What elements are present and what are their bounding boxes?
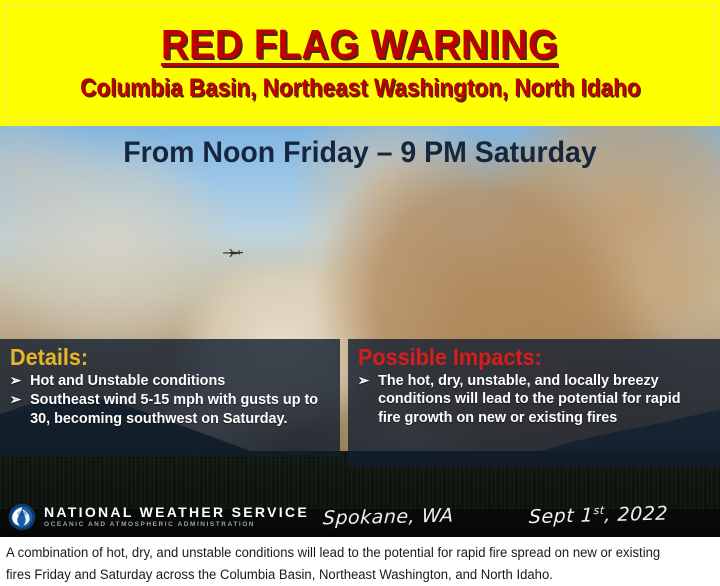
- issue-date-year: , 2022: [604, 503, 668, 527]
- warning-header-banner: RED FLAG WARNING Columbia Basin, Northea…: [0, 0, 720, 126]
- issue-date-main: Sept 1: [529, 504, 594, 528]
- nws-wordmark: NATIONAL WEATHER SERVICE OCEANIC AND ATM…: [44, 505, 309, 529]
- caption-block: A combination of hot, dry, and unstable …: [0, 537, 720, 585]
- warning-header-inner: RED FLAG WARNING Columbia Basin, Northea…: [4, 4, 716, 122]
- list-item: ➢ Southeast wind 5-15 mph with gusts up …: [8, 391, 319, 428]
- arrow-bullet-icon: ➢: [10, 372, 25, 388]
- issuing-office: Spokane, WA: [322, 505, 454, 530]
- details-bullet-list: ➢ Hot and Unstable conditions ➢ Southeas…: [8, 372, 332, 428]
- list-item-text: The hot, dry, unstable, and locally bree…: [378, 372, 680, 426]
- aircraft-icon: [222, 248, 244, 258]
- valid-time-headline: From Noon Friday – 9 PM Saturday: [18, 136, 702, 169]
- arrow-bullet-icon: ➢: [358, 372, 373, 388]
- details-heading: Details:: [10, 345, 313, 369]
- list-item-text: Southeast wind 5-15 mph with gusts up to…: [30, 391, 318, 426]
- list-item-text: Hot and Unstable conditions: [30, 372, 225, 389]
- page-title: RED FLAG WARNING: [161, 24, 558, 65]
- caption-line-2: fires Friday and Saturday across the Col…: [6, 564, 693, 586]
- impacts-panel: Possible Impacts: ➢ The hot, dry, unstab…: [348, 339, 720, 467]
- affected-areas-subtitle: Columbia Basin, Northeast Washington, No…: [80, 75, 640, 103]
- list-item: ➢ Hot and Unstable conditions: [8, 372, 319, 390]
- details-panel: Details: ➢ Hot and Unstable conditions ➢…: [0, 339, 340, 457]
- noaa-logo-icon: [8, 503, 36, 531]
- red-flag-warning-graphic: RED FLAG WARNING Columbia Basin, Northea…: [0, 0, 720, 537]
- arrow-bullet-icon: ➢: [10, 391, 25, 407]
- agency-subtitle: OCEANIC AND ATMOSPHERIC ADMINISTRATION: [44, 522, 309, 529]
- footer-bar: NATIONAL WEATHER SERVICE OCEANIC AND ATM…: [0, 497, 720, 537]
- impacts-heading: Possible Impacts:: [358, 345, 691, 369]
- agency-name: NATIONAL WEATHER SERVICE: [44, 505, 309, 519]
- wildfire-photo: [0, 126, 720, 537]
- caption-line-1: A combination of hot, dry, and unstable …: [6, 542, 693, 564]
- list-item: ➢ The hot, dry, unstable, and locally br…: [356, 372, 698, 427]
- impacts-bullet-list: ➢ The hot, dry, unstable, and locally br…: [356, 372, 712, 427]
- issue-date: Sept 1st, 2022: [529, 502, 669, 528]
